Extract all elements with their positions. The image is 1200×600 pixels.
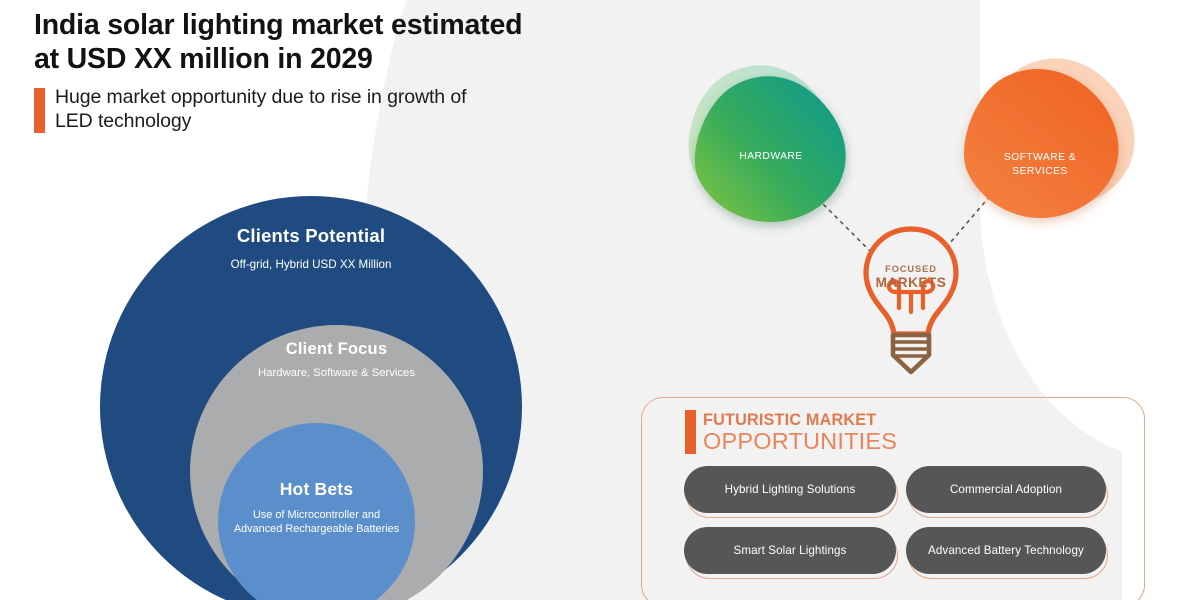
circle-clients-potential-subtitle: Off-grid, Hybrid USD XX Million [100, 258, 522, 271]
circle-client-focus-title: Client Focus [190, 340, 483, 359]
panel-accent-bar-icon [685, 410, 696, 454]
shape-software-services[interactable]: SOFTWARE & SERVICES [955, 55, 1150, 235]
futuristic-opportunities-panel: FUTURISTIC MARKET OPPORTUNITIES Hybrid L… [641, 397, 1145, 600]
panel-title-line-1: FUTURISTIC MARKET [703, 410, 897, 428]
pill-hybrid-lighting-solutions[interactable]: Hybrid Lighting Solutions [684, 466, 896, 513]
circle-hot-bets-title: Hot Bets [218, 479, 415, 500]
software-shape-label-line-2: SERVICES [951, 165, 1129, 179]
bulb-label-line-1: FOCUSED [852, 264, 970, 274]
subtitle-block: Huge market opportunity due to rise in g… [34, 86, 674, 133]
list-item[interactable]: Advanced Battery Technology [906, 527, 1106, 577]
infographic-canvas: India solar lighting market estimated at… [0, 0, 1200, 600]
circle-client-focus-subtitle: Hardware, Software & Services [190, 367, 483, 379]
panel-header: FUTURISTIC MARKET OPPORTUNITIES [685, 410, 897, 454]
lightbulb-icon [852, 222, 970, 380]
list-item[interactable]: Smart Solar Lightings [684, 527, 896, 577]
page-title-line-1: India solar lighting market estimated [34, 8, 674, 42]
software-shape-label-line-1: SOFTWARE & [951, 151, 1129, 165]
software-shape-label: SOFTWARE & SERVICES [951, 151, 1129, 179]
focused-markets-bulb[interactable]: FOCUSED MARKETS [852, 222, 970, 385]
headline-block: India solar lighting market estimated at… [34, 8, 674, 133]
circle-hot-bets-subtitle-line-1: Use of Microcontroller and [218, 508, 415, 522]
pill-smart-solar-lightings[interactable]: Smart Solar Lightings [684, 527, 896, 574]
page-title: India solar lighting market estimated at… [34, 8, 674, 77]
list-item[interactable]: Commercial Adoption [906, 466, 1106, 516]
circle-clients-potential-title: Clients Potential [100, 225, 522, 247]
page-subtitle: Huge market opportunity due to rise in g… [55, 86, 466, 133]
page-subtitle-line-1: Huge market opportunity due to rise in g… [55, 86, 466, 110]
panel-title-line-2: OPPORTUNITIES [703, 429, 897, 454]
circle-hot-bets-subtitle-line-2: Advanced Rechargeable Batteries [218, 522, 415, 536]
list-item[interactable]: Hybrid Lighting Solutions [684, 466, 896, 516]
hardware-shape-label: HARDWARE [676, 150, 866, 164]
accent-bar-icon [34, 88, 45, 133]
shape-hardware[interactable]: HARDWARE [676, 62, 866, 237]
page-subtitle-line-2: LED technology [55, 110, 466, 134]
pill-advanced-battery-technology[interactable]: Advanced Battery Technology [906, 527, 1106, 574]
circle-hot-bets-subtitle: Use of Microcontroller and Advanced Rech… [218, 508, 415, 537]
pill-commercial-adoption[interactable]: Commercial Adoption [906, 466, 1106, 513]
bulb-label-line-2: MARKETS [852, 275, 970, 290]
page-title-line-2: at USD XX million in 2029 [34, 42, 674, 76]
opportunity-pill-grid: Hybrid Lighting Solutions Commercial Ado… [684, 466, 1104, 577]
